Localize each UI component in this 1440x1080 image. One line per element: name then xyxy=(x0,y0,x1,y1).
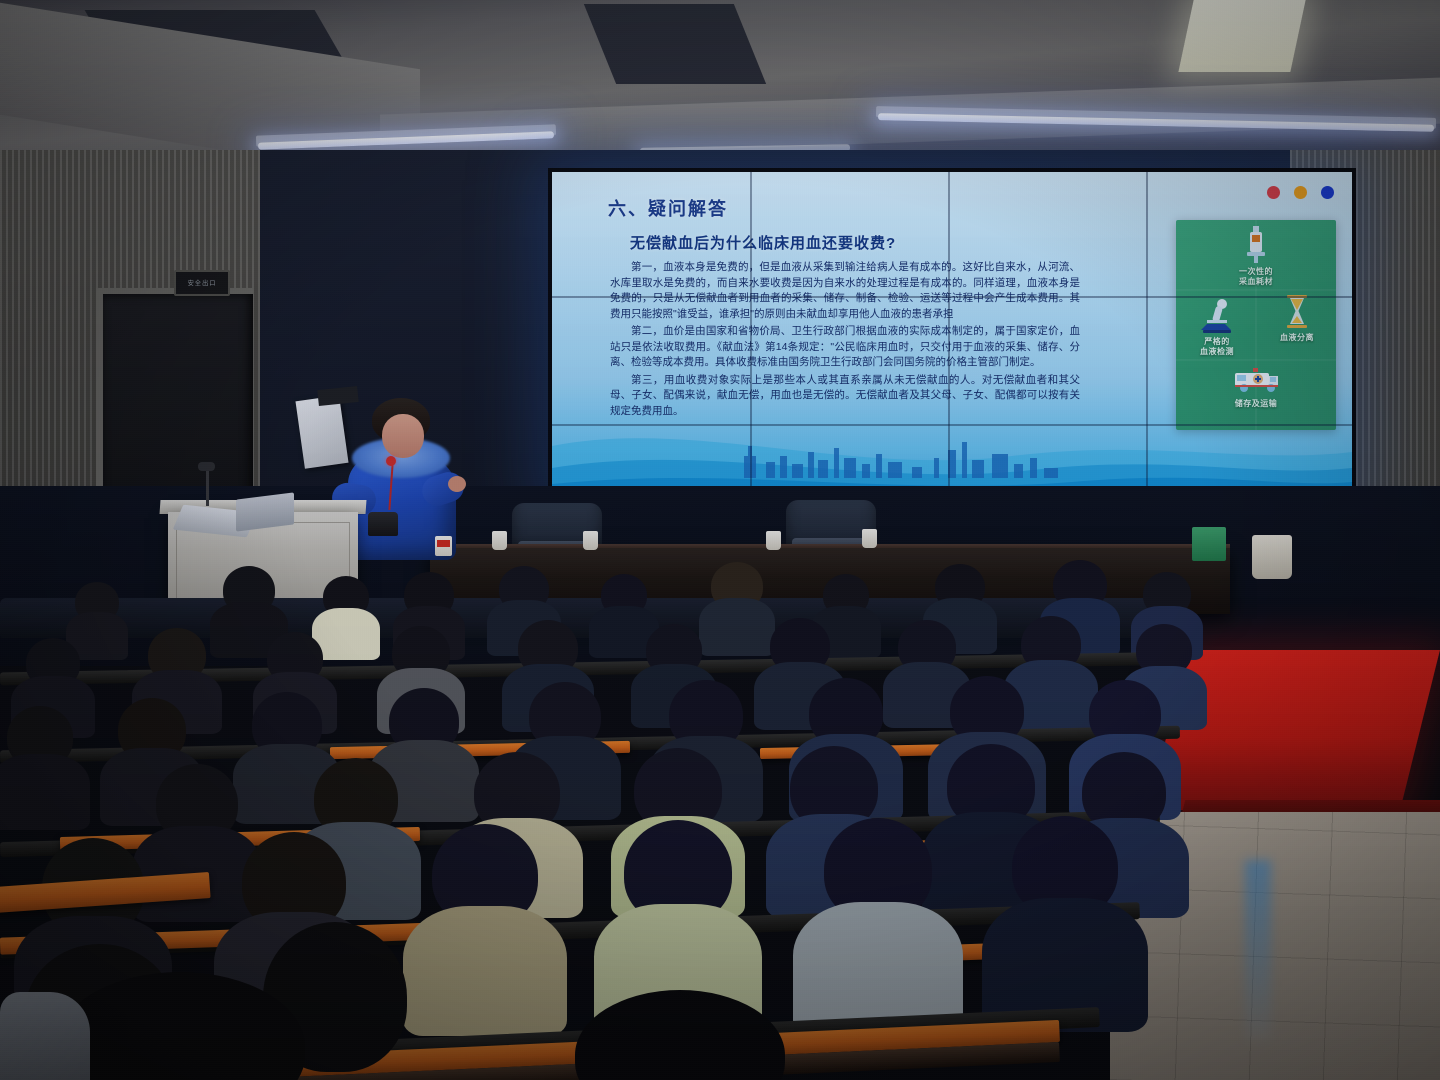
slide-paragraph-2: 第二，血价是由国家和省物价局、卫生行政部门根据血液的实际成本制定的，属于国家定价… xyxy=(610,324,1080,371)
microphone-clip-icon xyxy=(386,456,396,466)
infographic-item-ambulance: 储存及运输 xyxy=(1210,366,1302,409)
slide-section-heading: 六、疑问解答 xyxy=(608,195,728,221)
audience-person xyxy=(420,824,550,1030)
infographic-label-hourglass-1: 血液分离 xyxy=(1260,333,1334,343)
ambulance-icon xyxy=(1231,366,1281,396)
infographic-item-hourglass: 血液分离 xyxy=(1260,294,1334,343)
video-wall-bezel-h2 xyxy=(552,424,1352,426)
ceiling-light-panel xyxy=(1178,0,1305,72)
person-head xyxy=(55,972,305,1080)
slide-body: 第一，血液本身是免费的，但是血液从采集到输注给病人是有成本的。这好比自来水，从河… xyxy=(610,260,1080,421)
infographic-panel: 一次性的 采血耗材 严格的 血液检测 xyxy=(1176,220,1336,430)
infographic-label-ambulance-1: 储存及运输 xyxy=(1210,399,1302,409)
audience-person xyxy=(1000,816,1130,1028)
video-wall-bezel-v1 xyxy=(750,172,752,504)
person-head xyxy=(575,990,785,1080)
dot-blue-icon xyxy=(1321,186,1334,199)
exit-sign: 安全出口 xyxy=(174,270,230,296)
microphone-stand xyxy=(206,470,209,506)
slide-paragraph-1: 第一，血液本身是免费的，但是血液从采集到输注给病人是有成本的。这好比自来水，从河… xyxy=(610,260,1080,322)
video-wall-bezel-v2 xyxy=(948,172,950,504)
syringe-icon xyxy=(1243,224,1269,264)
audience xyxy=(0,520,1440,1080)
slide-dot-group xyxy=(1267,186,1334,199)
presenter-hand xyxy=(448,476,466,492)
audience-person xyxy=(812,818,944,1030)
dot-orange-icon xyxy=(1294,186,1307,199)
slide-question: 无偿献血后为什么临床用血还要收费? xyxy=(630,232,896,253)
infographic-label-syringe-2: 采血耗材 xyxy=(1216,277,1296,287)
audience-person xyxy=(0,706,80,816)
presenter-face xyxy=(382,414,424,458)
microscope-icon xyxy=(1197,298,1237,334)
audience-person xyxy=(706,562,768,638)
video-wall-bezel-h1 xyxy=(552,296,1352,298)
infographic-item-syringe: 一次性的 采血耗材 xyxy=(1216,224,1296,287)
video-wall-bezel-v3 xyxy=(1146,172,1148,504)
person-body xyxy=(0,754,90,830)
ceiling-recess-mid xyxy=(584,4,766,84)
video-wall-display: 六、疑问解答 无偿献血后为什么临床用血还要收费? 第一，血液本身是免费的，但是血… xyxy=(552,172,1352,504)
video-wall: 六、疑问解答 无偿献血后为什么临床用血还要收费? 第一，血液本身是免费的，但是血… xyxy=(548,168,1356,508)
infographic-label-syringe-1: 一次性的 xyxy=(1216,267,1296,277)
foreground-sleeve xyxy=(0,992,90,1080)
exit-sign-label: 安全出口 xyxy=(188,280,217,286)
audience-person xyxy=(218,566,280,638)
lecture-hall-photo: 安全出口 六、疑问解答 无偿献血后为什么临床用血还要收费? 第一，血液本身是免费… xyxy=(0,0,1440,1080)
infographic-item-microscope: 严格的 血液检测 xyxy=(1178,298,1256,357)
presentation-slide: 六、疑问解答 无偿献血后为什么临床用血还要收费? 第一，血液本身是免费的，但是血… xyxy=(552,172,1352,504)
infographic-label-microscope-1: 严格的 xyxy=(1178,337,1256,347)
audience-person xyxy=(560,990,800,1080)
hourglass-icon xyxy=(1284,294,1310,330)
infographic-label-microscope-2: 血液检测 xyxy=(1178,347,1256,357)
dot-red-icon xyxy=(1267,186,1280,199)
audience-person xyxy=(70,582,124,644)
microphone-icon xyxy=(198,462,215,471)
person-body xyxy=(403,906,567,1036)
